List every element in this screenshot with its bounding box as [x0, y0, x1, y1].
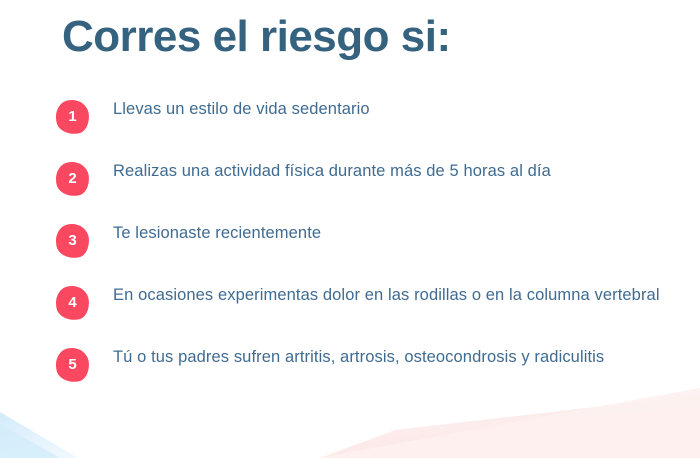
step-number-label: 2	[56, 162, 89, 196]
step-number-label: 4	[56, 286, 89, 320]
list-item: 4 En ocasiones experimentas dolor en las…	[0, 282, 700, 328]
step-number-badge: 4	[56, 286, 89, 320]
list-item: 3 Te lesionaste recientemente	[0, 220, 700, 266]
risk-item-text: Llevas un estilo de vida sedentario	[113, 96, 370, 122]
bottom-left-blue-wedge	[0, 412, 78, 458]
risk-factors-card: Corres el riesgo si: 1 Llevas un estilo …	[0, 0, 700, 458]
step-number-label: 3	[56, 224, 89, 258]
risk-factors-list: 1 Llevas un estilo de vida sedentario 2 …	[0, 96, 700, 406]
risk-item-text: Te lesionaste recientemente	[113, 220, 321, 246]
step-number-label: 5	[56, 348, 89, 382]
step-number-badge: 2	[56, 162, 89, 196]
list-item: 2 Realizas una actividad física durante …	[0, 158, 700, 204]
step-number-label: 1	[56, 100, 89, 134]
list-item: 1 Llevas un estilo de vida sedentario	[0, 96, 700, 142]
step-number-badge: 5	[56, 348, 89, 382]
bottom-left-blue-wedge-soft	[0, 424, 60, 458]
risk-item-text: En ocasiones experimentas dolor en las r…	[113, 282, 660, 308]
page-title: Corres el riesgo si:	[62, 8, 451, 66]
list-item: 5 Tú o tus padres sufren artritis, artro…	[0, 344, 700, 390]
risk-item-text: Tú o tus padres sufren artritis, artrosi…	[113, 344, 604, 370]
risk-item-text: Realizas una actividad física durante má…	[113, 158, 551, 184]
step-number-badge: 1	[56, 100, 89, 134]
step-number-badge: 3	[56, 224, 89, 258]
